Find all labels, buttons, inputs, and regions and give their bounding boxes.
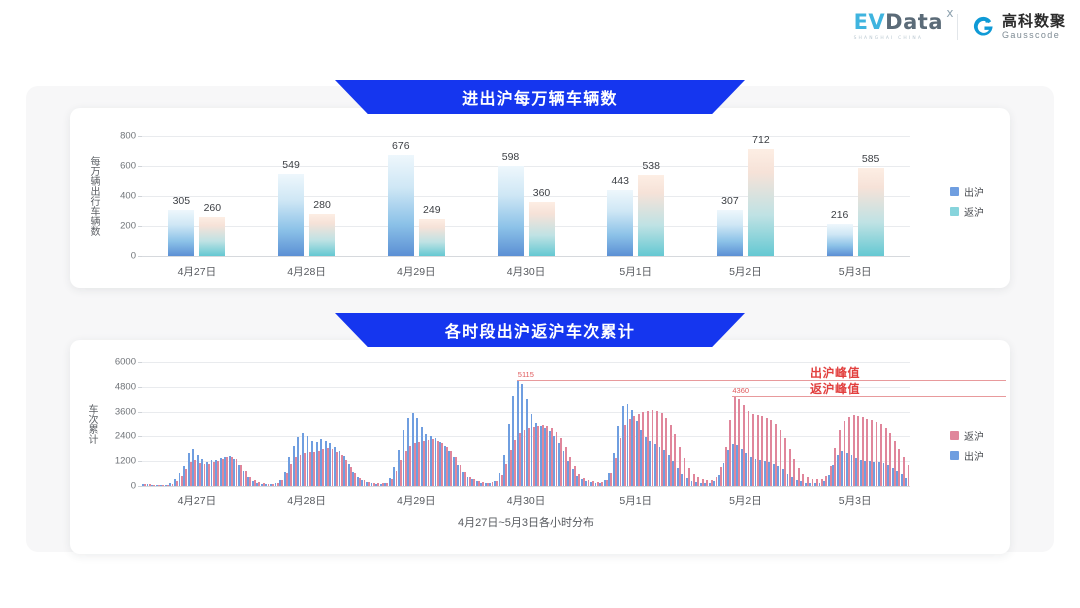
chart1-bar-value-返沪-4月28日: 280 — [313, 199, 331, 211]
gridline-4800 — [142, 387, 910, 388]
chart1-bar-出沪-4月30日 — [498, 166, 524, 256]
y-tick-mark-200 — [138, 226, 142, 227]
chart2-x-label-5月3日: 5月3日 — [839, 493, 872, 508]
chart2-x-label-5月2日: 5月2日 — [729, 493, 762, 508]
chart1-bar-value-出沪-4月29日: 676 — [392, 140, 410, 152]
chart1-x-label-5月3日: 5月3日 — [839, 264, 872, 279]
y-tick-mark-6000 — [138, 362, 142, 363]
y-tick-200: 200 — [120, 221, 136, 232]
chart2-x-label-4月28日: 4月28日 — [287, 493, 326, 508]
chart1-bar-value-返沪-4月30日: 360 — [533, 187, 551, 199]
annotation-value-4360: 4360 — [732, 386, 749, 395]
chart2-x-label-4月30日: 4月30日 — [507, 493, 546, 508]
y-tick-0: 0 — [131, 481, 136, 492]
annotation-label-返沪峰值: 返沪峰值 — [810, 380, 860, 397]
evdata-logo: EVDatax SHANGHAI CHINA — [854, 12, 943, 41]
legend-label-返沪: 返沪 — [964, 428, 984, 443]
chart1-card: 0200400600800每万辆出行车辆数3052604月27日5492804月… — [70, 108, 1010, 288]
chart2-x-label-5月1日: 5月1日 — [619, 493, 652, 508]
gausscode-cn-name: 高科数聚 — [1002, 14, 1066, 29]
chart2-card: 012002400360048006000车次累计4月27日4月28日4月29日… — [70, 340, 1010, 554]
y-tick-6000: 6000 — [115, 357, 136, 368]
chart2-bar-ret — [908, 465, 910, 486]
y-tick-mark-4800 — [138, 387, 142, 388]
logo-divider — [957, 14, 958, 40]
chart1-bar-value-返沪-4月29日: 249 — [423, 204, 441, 216]
gridline-800 — [142, 136, 910, 137]
chart1-bar-出沪-5月1日 — [607, 190, 633, 256]
chart1-bar-返沪-5月3日 — [858, 168, 884, 256]
chart1-bar-value-出沪-5月3日: 216 — [831, 209, 849, 221]
chart1-bar-value-出沪-5月2日: 307 — [721, 195, 739, 207]
y-tick-1200: 1200 — [115, 456, 136, 467]
chart1-bar-value-出沪-4月28日: 549 — [282, 159, 300, 171]
y-tick-mark-2400 — [138, 436, 142, 437]
chart1-bar-返沪-4月28日 — [309, 214, 335, 256]
chart2-title-banner: 各时段出沪返沪车次累计 — [335, 313, 745, 347]
y-axis-label: 每万辆出行车辆数 — [86, 132, 101, 260]
gridline-6000 — [142, 362, 910, 363]
chart1-bar-value-出沪-4月30日: 598 — [502, 151, 520, 163]
y-tick-mark-3600 — [138, 412, 142, 413]
y-axis-label: 车次累计 — [84, 362, 99, 486]
y-tick-600: 600 — [120, 161, 136, 172]
chart1-bar-value-返沪-5月2日: 712 — [752, 134, 770, 146]
chart1-bar-value-返沪-5月1日: 538 — [642, 160, 660, 172]
chart1-bar-出沪-4月29日 — [388, 155, 414, 256]
legend-swatch-出沪 — [950, 187, 959, 196]
y-tick-2400: 2400 — [115, 431, 136, 442]
evdata-tagline: SHANGHAI CHINA — [854, 36, 924, 41]
gausscode-en-name: Gausscode — [1002, 31, 1066, 40]
chart1-bar-出沪-5月3日 — [827, 224, 853, 256]
y-tick-0: 0 — [131, 251, 136, 262]
chart1-bar-返沪-4月29日 — [419, 219, 445, 256]
gridline-400 — [142, 196, 910, 197]
annotation-value-5115: 5115 — [518, 370, 534, 379]
y-tick-mark-800 — [138, 136, 142, 137]
legend-swatch-返沪 — [950, 207, 959, 216]
annotation-line-返沪峰值 — [732, 396, 1006, 397]
gridline-600 — [142, 166, 910, 167]
x-axis-line — [142, 486, 910, 487]
chart2-x-label-4月29日: 4月29日 — [397, 493, 436, 508]
chart1-bar-返沪-5月1日 — [638, 175, 664, 256]
legend-item-出沪[interactable]: 出沪 — [950, 184, 984, 199]
chart1-bar-value-返沪-5月3日: 585 — [862, 153, 880, 165]
legend-item-出沪[interactable]: 出沪 — [950, 448, 984, 463]
chart1-bar-出沪-4月27日 — [168, 210, 194, 256]
legend-swatch-出沪 — [950, 451, 959, 460]
legend-item-返沪[interactable]: 返沪 — [950, 204, 984, 219]
chart1-legend: 出沪返沪 — [950, 184, 984, 219]
chart1-title-banner: 进出沪每万辆车辆数 — [335, 80, 745, 114]
legend-label-返沪: 返沪 — [964, 204, 984, 219]
chart1-x-label-4月28日: 4月28日 — [287, 264, 326, 279]
evdata-data-text: Data — [885, 10, 943, 34]
evdata-superscript: x — [946, 7, 954, 19]
chart1-plot-area: 0200400600800每万辆出行车辆数3052604月27日5492804月… — [142, 136, 910, 256]
y-tick-3600: 3600 — [115, 406, 136, 417]
chart1-bar-返沪-5月2日 — [748, 149, 774, 256]
y-tick-mark-400 — [138, 196, 142, 197]
gausscode-mark-icon — [972, 15, 995, 38]
y-tick-mark-1200 — [138, 461, 142, 462]
brand-logo-bar: EVDatax SHANGHAI CHINA 高科数聚 Gausscode — [854, 12, 1066, 41]
chart1-bar-返沪-4月27日 — [199, 217, 225, 256]
chart1-bar-value-出沪-5月1日: 443 — [611, 175, 629, 187]
chart1-bar-返沪-4月30日 — [529, 202, 555, 256]
chart2-x-axis-title: 4月27日~5月3日各小时分布 — [458, 514, 594, 530]
y-tick-400: 400 — [120, 191, 136, 202]
legend-label-出沪: 出沪 — [964, 448, 984, 463]
legend-swatch-返沪 — [950, 431, 959, 440]
chart1-x-label-4月29日: 4月29日 — [397, 264, 436, 279]
annotation-label-出沪峰值: 出沪峰值 — [810, 364, 860, 381]
chart2-plot-area: 012002400360048006000车次累计4月27日4月28日4月29日… — [142, 362, 910, 486]
chart1-bar-value-出沪-4月27日: 305 — [173, 195, 191, 207]
gausscode-logo: 高科数聚 Gausscode — [972, 14, 1066, 40]
evdata-wordmark: EVDatax — [854, 12, 943, 33]
chart2-legend: 返沪出沪 — [950, 428, 984, 463]
chart1-x-label-5月2日: 5月2日 — [729, 264, 762, 279]
y-tick-mark-600 — [138, 166, 142, 167]
legend-item-返沪[interactable]: 返沪 — [950, 428, 984, 443]
legend-label-出沪: 出沪 — [964, 184, 984, 199]
chart1-bar-出沪-5月2日 — [717, 210, 743, 256]
chart1-x-label-5月1日: 5月1日 — [619, 264, 652, 279]
chart2-x-label-4月27日: 4月27日 — [178, 493, 217, 508]
evdata-ev-text: EV — [854, 10, 886, 34]
x-axis-line — [142, 256, 910, 257]
chart1-x-label-4月27日: 4月27日 — [178, 264, 217, 279]
annotation-line-出沪峰值 — [517, 380, 1006, 381]
chart1-bar-value-返沪-4月27日: 260 — [204, 202, 222, 214]
chart1-x-label-4月30日: 4月30日 — [507, 264, 546, 279]
gridline-200 — [142, 226, 910, 227]
y-tick-4800: 4800 — [115, 381, 136, 392]
y-tick-800: 800 — [120, 131, 136, 142]
chart1-bar-出沪-4月28日 — [278, 174, 304, 256]
